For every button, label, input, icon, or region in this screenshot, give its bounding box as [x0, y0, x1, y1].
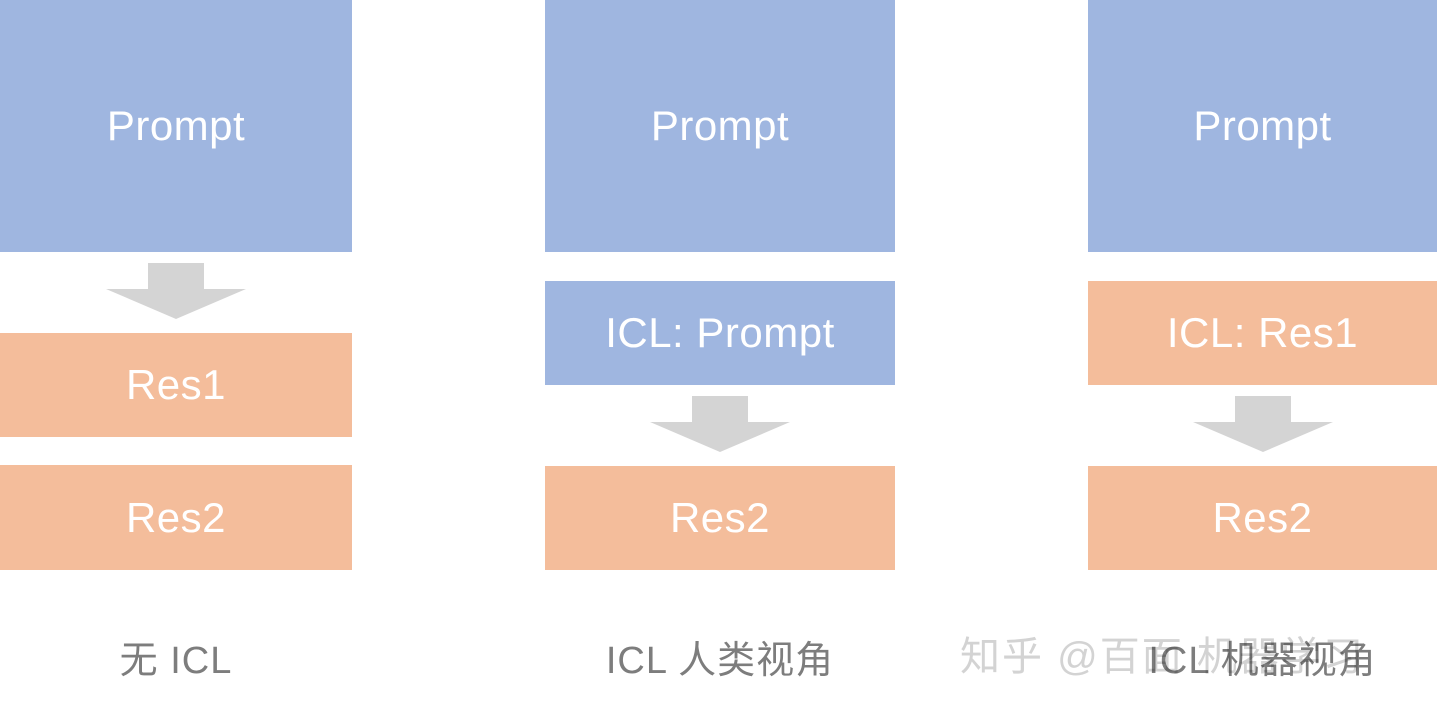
column-icl-machine-view: Prompt ICL: Res1 Res2 [1088, 0, 1437, 707]
down-arrow-icon [1193, 396, 1333, 452]
box-res2: Res2 [1088, 466, 1437, 570]
box-label: Prompt [107, 105, 245, 147]
caption-no-icl: 无 ICL [0, 626, 352, 686]
box-label: ICL: Res1 [1167, 312, 1358, 354]
column-no-icl: Prompt Res1 Res2 [0, 0, 352, 707]
down-arrow-icon [650, 396, 790, 452]
box-label: Prompt [651, 105, 789, 147]
box-label: Res2 [126, 497, 226, 539]
box-icl-prompt: ICL: Prompt [545, 281, 895, 385]
caption-icl-human-view: ICL 人类视角 [545, 626, 895, 686]
diagram-canvas: Prompt Res1 Res2 Prompt ICL: Prompt Res2 [0, 0, 1440, 707]
caption-icl-machine-view: ICL 机器视角 [1088, 626, 1437, 686]
box-res2: Res2 [545, 466, 895, 570]
box-label: Res2 [670, 497, 770, 539]
box-label: Prompt [1193, 105, 1331, 147]
box-prompt: Prompt [545, 0, 895, 252]
box-prompt: Prompt [1088, 0, 1437, 252]
box-res2: Res2 [0, 465, 352, 570]
down-arrow-icon [106, 263, 246, 319]
box-prompt: Prompt [0, 0, 352, 252]
box-label: Res2 [1212, 497, 1312, 539]
box-res1: Res1 [0, 333, 352, 437]
box-icl-res1: ICL: Res1 [1088, 281, 1437, 385]
column-icl-human-view: Prompt ICL: Prompt Res2 [545, 0, 895, 707]
box-label: ICL: Prompt [605, 312, 835, 354]
box-label: Res1 [126, 364, 226, 406]
